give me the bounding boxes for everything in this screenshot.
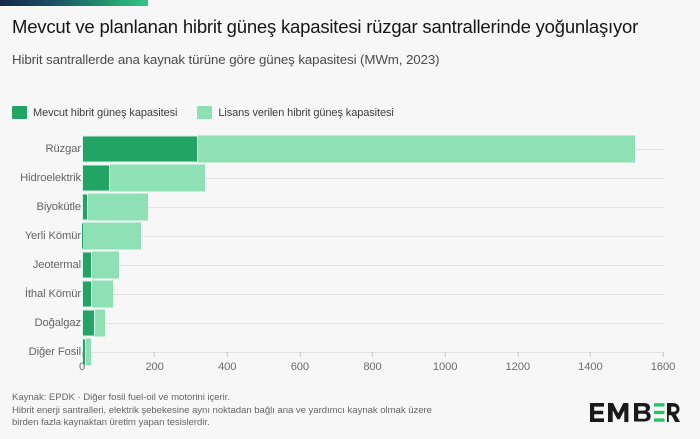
chart-row: Biyokütle	[0, 192, 700, 221]
bar-segment-existing[interactable]	[82, 309, 95, 336]
footer-line: Kaynak: EPDK · Diğer fosil fuel-oil ve m…	[12, 392, 572, 405]
footer-line: Hibrit enerji santralleri, elektrik şebe…	[12, 405, 572, 418]
stacked-bar[interactable]	[82, 309, 105, 336]
legend-item[interactable]: Lisans verilen hibrit güneş kapasitesi	[197, 106, 393, 119]
x-axis-tick: 1200	[506, 352, 531, 373]
tick-label: 200	[145, 361, 163, 373]
bar-segment-licensed[interactable]	[92, 280, 113, 307]
legend-label: Mevcut hibrit güneş kapasitesi	[33, 107, 177, 119]
category-label: Yerli Kömür	[25, 230, 81, 242]
category-label: İthal Kömür	[25, 288, 81, 300]
stacked-bar[interactable]	[82, 251, 119, 278]
gridline	[82, 323, 664, 324]
bar-segment-licensed[interactable]	[95, 309, 105, 336]
tick-mark	[372, 352, 373, 357]
x-axis-tick: 800	[363, 352, 381, 373]
category-label: Jeotermal	[33, 259, 81, 271]
stacked-bar[interactable]	[82, 164, 205, 191]
x-axis-tick: 200	[145, 352, 163, 373]
brand-gradient-rule	[0, 0, 148, 6]
x-axis-tick: 400	[218, 352, 236, 373]
tick-label: 600	[291, 361, 309, 373]
chart-row: Jeotermal	[0, 250, 700, 279]
tick-mark	[517, 352, 518, 357]
chart-row: Hidroelektrik	[0, 163, 700, 192]
chart-row: Yerli Kömür	[0, 221, 700, 250]
tick-label: 1400	[578, 361, 603, 373]
x-axis-tick: 1600	[651, 352, 676, 373]
ember-logo	[590, 402, 682, 424]
tick-mark	[590, 352, 591, 357]
chart-row: Rüzgar	[0, 134, 700, 163]
x-axis-tick: 1000	[433, 352, 458, 373]
chart-footer: Kaynak: EPDK · Diğer fosil fuel-oil ve m…	[12, 392, 572, 430]
tick-label: 800	[363, 361, 381, 373]
x-axis: 02004006008001000120014001600	[0, 352, 700, 386]
tick-mark	[663, 352, 664, 357]
tick-label: 1600	[651, 361, 676, 373]
tick-label: 1200	[506, 361, 531, 373]
category-label: Hidroelektrik	[20, 172, 81, 184]
bar-segment-licensed[interactable]	[110, 164, 206, 191]
category-label: Biyokütle	[37, 201, 82, 213]
tick-label: 0	[79, 361, 85, 373]
chart-subtitle: Hibrit santrallerde ana kaynak türüne gö…	[12, 51, 676, 69]
chart-row: İthal Kömür	[0, 279, 700, 308]
stacked-bar[interactable]	[82, 280, 113, 307]
legend-swatch	[197, 106, 212, 119]
stacked-bar[interactable]	[82, 222, 141, 249]
tick-mark	[82, 352, 83, 357]
page-title: Mevcut ve planlanan hibrit güneş kapasit…	[12, 14, 676, 39]
bar-segment-existing[interactable]	[82, 135, 198, 162]
gridline	[82, 265, 664, 266]
tick-mark	[227, 352, 228, 357]
legend-label: Lisans verilen hibrit güneş kapasitesi	[218, 107, 393, 119]
bar-segment-existing[interactable]	[82, 251, 92, 278]
bar-segment-licensed[interactable]	[198, 135, 635, 162]
tick-mark	[445, 352, 446, 357]
chart-header: Mevcut ve planlanan hibrit güneş kapasit…	[12, 14, 676, 69]
bar-segment-existing[interactable]	[82, 164, 110, 191]
bar-segment-licensed[interactable]	[83, 222, 141, 249]
stacked-bar[interactable]	[82, 193, 148, 220]
x-axis-tick: 600	[291, 352, 309, 373]
gridline	[82, 294, 664, 295]
gridline	[82, 236, 664, 237]
x-axis-tick: 0	[79, 352, 85, 373]
tick-label: 1000	[433, 361, 458, 373]
category-label: Rüzgar	[46, 143, 81, 155]
x-axis-tick: 1400	[578, 352, 603, 373]
chart-row: Doğalgaz	[0, 308, 700, 337]
tick-mark	[154, 352, 155, 357]
chart-root: Mevcut ve planlanan hibrit güneş kapasit…	[0, 0, 700, 439]
bar-segment-licensed[interactable]	[88, 193, 148, 220]
tick-mark	[299, 352, 300, 357]
legend-swatch	[12, 106, 27, 119]
plot-area: RüzgarHidroelektrikBiyokütleYerli KömürJ…	[0, 134, 700, 366]
bar-segment-existing[interactable]	[82, 280, 92, 307]
stacked-bar[interactable]	[82, 135, 635, 162]
tick-label: 400	[218, 361, 236, 373]
legend-item[interactable]: Mevcut hibrit güneş kapasitesi	[12, 106, 177, 119]
bar-segment-licensed[interactable]	[92, 251, 119, 278]
chart-legend: Mevcut hibrit güneş kapasitesiLisans ver…	[12, 106, 394, 119]
category-label: Doğalgaz	[35, 317, 81, 329]
footer-line: birden fazla kaynaktan üretim yapan tesi…	[12, 417, 572, 430]
gridline	[82, 207, 664, 208]
